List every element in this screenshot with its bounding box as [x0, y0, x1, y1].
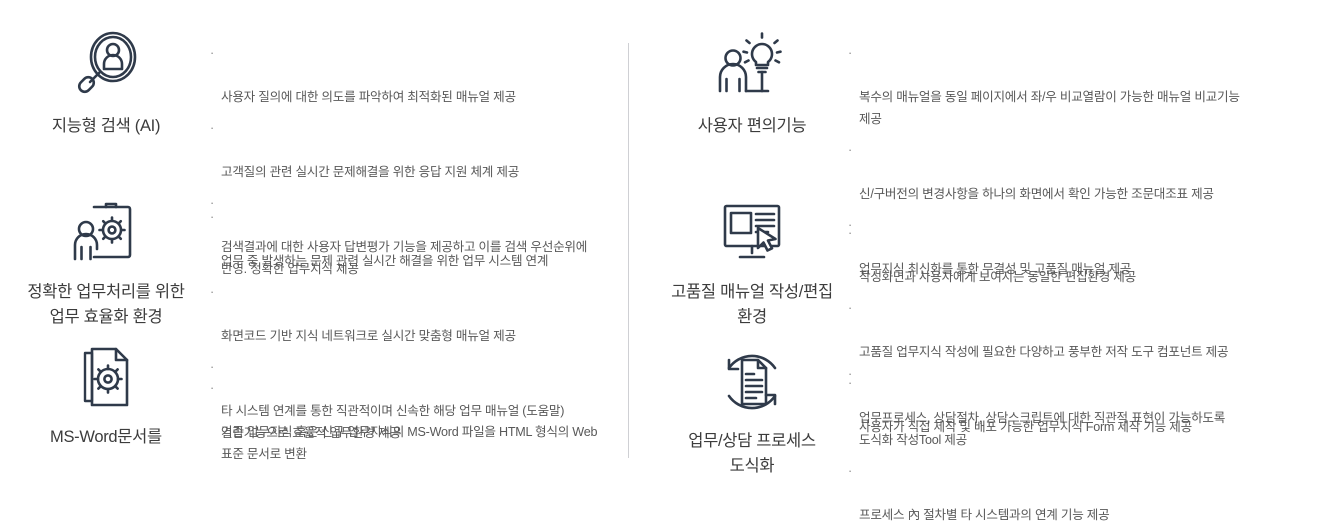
bullet-text: 화면코드 기반 지식 네트워크로 실시간 맞춤형 매뉴얼 제공: [221, 329, 516, 343]
bullet-text: 업무프로세스, 상담절차, 상담스크립트에 대한 직관적 표현이 가능하도록 도…: [859, 411, 1225, 447]
magnifier-person-icon: [68, 28, 144, 106]
feature-icon-block: 고품질 매뉴얼 작성/편집 환경: [628, 188, 848, 330]
bullet-item: · 프로세스 內 절차별 타 시스템과의 연계 기능 제공: [848, 460, 1307, 526]
feature-body: · 기존 업무지식 혹은 신규 업무지식의 MS-Word 파일을 HTML 형…: [210, 333, 628, 465]
bullet-dot: ·: [210, 377, 214, 399]
bullet-text: 신/구버전의 변경사항을 하나의 화면에서 확인 가능한 조문대조표 제공: [859, 187, 1214, 201]
feature-icon-block: 정확한 업무처리를 위한 업무 효율화 환경: [0, 188, 210, 330]
bullet-dot: ·: [848, 42, 852, 64]
bullet-dot: ·: [848, 222, 852, 244]
documents-gear-icon: [71, 339, 141, 417]
feature-title: 사용자 편의기능: [698, 114, 806, 139]
bullet-item: · 작성화면과 사용자에게 보여지는 동일한 편집환경 제공: [848, 222, 1307, 288]
bullet-item: · 사용자 질의에 대한 의도를 파악하여 최적화된 매뉴얼 제공: [210, 42, 618, 108]
feature-icon-block: 지능형 검색 (AI): [0, 28, 210, 139]
feature-manual-authoring: 고품질 매뉴얼 작성/편집 환경 · 작성화면과 사용자에게 보여지는 동일한 …: [628, 188, 1317, 333]
feature-title: 정확한 업무처리를 위한 업무 효율화 환경: [27, 280, 184, 330]
column-divider: [628, 43, 629, 458]
feature-title: MS-Word문서를: [50, 425, 162, 450]
bullet-text: 업무 중 발생하는 문제 관련 실시간 해결을 위한 업무 시스템 연계: [221, 254, 548, 268]
person-lightbulb-icon: [714, 28, 790, 106]
bullet-dot: ·: [848, 139, 852, 161]
bullet-text: 고품질 업무지식 작성에 필요한 다양하고 풍부한 저작 도구 컴포넌트 제공: [859, 345, 1228, 359]
bullet-dot: ·: [848, 363, 852, 385]
feature-board: 지능형 검색 (AI) · 사용자 질의에 대한 의도를 파악하여 최적화된 매…: [0, 0, 1317, 484]
bullet-text: 복수의 매뉴얼을 동일 페이지에서 좌/우 비교열람이 가능한 매뉴얼 비교기능…: [859, 90, 1240, 126]
feature-work-efficiency: 정확한 업무처리를 위한 업무 효율화 환경 · 업무 중 발생하는 문제 관련…: [0, 188, 628, 333]
bullet-dot: ·: [848, 297, 852, 319]
bullet-item: · 기존 업무지식 혹은 신규 업무지식의 MS-Word 파일을 HTML 형…: [210, 377, 618, 465]
feature-title: 지능형 검색 (AI): [52, 114, 160, 139]
bullet-dot: ·: [210, 206, 214, 228]
clipboard-gear-person-icon: [68, 194, 144, 272]
left-feature-column: 지능형 검색 (AI) · 사용자 질의에 대한 의도를 파악하여 최적화된 매…: [0, 0, 628, 484]
bullet-text: 사용자 질의에 대한 의도를 파악하여 최적화된 매뉴얼 제공: [221, 90, 516, 104]
bullet-list: · 업무프로세스, 상담절차, 상담스크립트에 대한 직관적 표현이 가능하도록…: [848, 363, 1307, 526]
bullet-item: · 복수의 매뉴얼을 동일 페이지에서 좌/우 비교열람이 가능한 매뉴얼 비교…: [848, 42, 1307, 130]
bullet-dot: ·: [210, 42, 214, 64]
feature-icon-block: 사용자 편의기능: [628, 28, 848, 139]
bullet-item: · 화면코드 기반 지식 네트워크로 실시간 맞춤형 매뉴얼 제공: [210, 281, 618, 347]
feature-user-convenience: 사용자 편의기능 · 복수의 매뉴얼을 동일 페이지에서 좌/우 비교열람이 가…: [628, 28, 1317, 188]
feature-intelligent-search: 지능형 검색 (AI) · 사용자 질의에 대한 의도를 파악하여 최적화된 매…: [0, 28, 628, 188]
monitor-cursor-icon: [714, 194, 790, 272]
bullet-text: 고객질의 관련 실시간 문제해결을 위한 응답 지원 체계 제공: [221, 165, 519, 179]
document-refresh-icon: [714, 343, 790, 421]
bullet-item: · 고품질 업무지식 작성에 필요한 다양하고 풍부한 저작 도구 컴포넌트 제…: [848, 297, 1307, 363]
bullet-list: · 기존 업무지식 혹은 신규 업무지식의 MS-Word 파일을 HTML 형…: [210, 377, 618, 465]
feature-title: 고품질 매뉴얼 작성/편집 환경: [671, 280, 833, 330]
bullet-item: · 고객질의 관련 실시간 문제해결을 위한 응답 지원 체계 제공: [210, 117, 618, 183]
bullet-text: 작성화면과 사용자에게 보여지는 동일한 편집환경 제공: [859, 270, 1136, 284]
bullet-item: · 업무 중 발생하는 문제 관련 실시간 해결을 위한 업무 시스템 연계: [210, 206, 618, 272]
feature-icon-block: 업무/상담 프로세스 도식화: [628, 333, 848, 479]
bullet-dot: ·: [210, 281, 214, 303]
bullet-dot: ·: [210, 117, 214, 139]
bullet-item: · 신/구버전의 변경사항을 하나의 화면에서 확인 가능한 조문대조표 제공: [848, 139, 1307, 205]
bullet-text: 기존 업무지식 혹은 신규 업무지식의 MS-Word 파일을 HTML 형식의…: [221, 425, 597, 461]
bullet-item: · 업무프로세스, 상담절차, 상담스크립트에 대한 직관적 표현이 가능하도록…: [848, 363, 1307, 451]
bullet-text: 프로세스 內 절차별 타 시스템과의 연계 기능 제공: [859, 508, 1109, 522]
bullet-dot: ·: [848, 460, 852, 482]
right-feature-column: 사용자 편의기능 · 복수의 매뉴얼을 동일 페이지에서 좌/우 비교열람이 가…: [628, 0, 1317, 484]
feature-icon-block: MS-Word문서를: [0, 333, 210, 450]
bullet-dot: ·: [210, 356, 214, 378]
feature-title: 업무/상담 프로세스 도식화: [688, 429, 816, 479]
